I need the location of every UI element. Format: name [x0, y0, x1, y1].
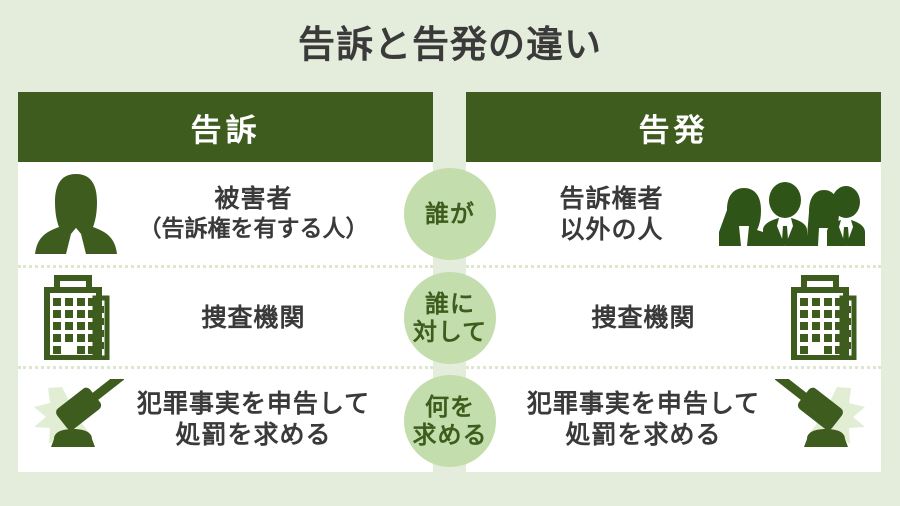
badge-to-whom: 誰に 対して: [404, 272, 496, 364]
row-line2: （告訴権を有する人）: [124, 214, 383, 245]
row-line2: 処罰を求める: [512, 419, 775, 450]
row-line2: 処罰を求める: [124, 419, 383, 450]
column-kokuso: 告訴 被害者 （告訴権を有する人）: [18, 92, 433, 472]
table-row: 犯罪事実を申告して 処罰を求める: [18, 366, 433, 469]
column-header-right: 告発: [466, 92, 881, 162]
row-line1: 捜査機関: [512, 302, 775, 333]
table-row: 告訴権者 以外の人: [466, 162, 881, 265]
infographic-root: 告訴と告発の違い 告訴 被害者 （告訴権を有する人）: [0, 0, 900, 506]
row-line2: 以外の人: [512, 214, 711, 245]
badge-line2: 対して: [413, 318, 487, 346]
column-header-left: 告訴: [18, 92, 433, 162]
building-icon: [775, 274, 871, 360]
row-text-left-3: 犯罪事実を申告して 処罰を求める: [124, 388, 417, 450]
building-glyph: [37, 274, 115, 360]
building-glyph: [784, 274, 862, 360]
row-line1: 告訴権者: [512, 183, 711, 214]
row-text-right-2: 捜査機関: [482, 302, 775, 333]
column-kokuhatsu: 告発 告訴権者 以外の人: [466, 92, 881, 472]
row-text-left-2: 捜査機関: [124, 302, 417, 333]
badge-line1: 誰が: [425, 200, 475, 228]
woman-silhouette-icon: [28, 172, 124, 256]
gavel-icon: [775, 379, 871, 459]
people-group-icon: [711, 180, 871, 248]
people-group-glyph: [713, 180, 869, 248]
table-row: 捜査機関: [18, 265, 433, 366]
badge-line1: 誰に: [413, 290, 487, 318]
column-body-right: 告訴権者 以外の人: [466, 162, 881, 472]
table-row: 犯罪事実を申告して 処罰を求める: [466, 366, 881, 469]
badge-line2: 求める: [413, 421, 488, 449]
column-header-right-label: 告発: [639, 105, 709, 150]
badge-what-sought: 何を 求める: [404, 375, 496, 467]
row-line1: 犯罪事実を申告して: [124, 388, 383, 419]
row-text-left-1: 被害者 （告訴権を有する人）: [124, 183, 417, 245]
row-line1: 捜査機関: [124, 302, 383, 333]
table-row: 被害者 （告訴権を有する人）: [18, 162, 433, 265]
column-header-left-label: 告訴: [191, 105, 261, 150]
gavel-glyph: [775, 379, 871, 459]
gavel-glyph: [28, 379, 124, 459]
table-row: 捜査機関: [466, 265, 881, 366]
gavel-icon: [28, 379, 124, 459]
row-line1: 犯罪事実を申告して: [512, 388, 775, 419]
woman-silhouette-glyph: [33, 172, 119, 256]
row-text-right-3: 犯罪事実を申告して 処罰を求める: [482, 388, 775, 450]
building-icon: [28, 274, 124, 360]
page-title: 告訴と告発の違い: [0, 22, 900, 68]
badge-line1: 何を: [413, 393, 488, 421]
column-body-left: 被害者 （告訴権を有する人）: [18, 162, 433, 472]
row-line1: 被害者: [124, 183, 383, 214]
row-text-right-1: 告訴権者 以外の人: [482, 183, 711, 245]
badge-who: 誰が: [404, 168, 496, 260]
